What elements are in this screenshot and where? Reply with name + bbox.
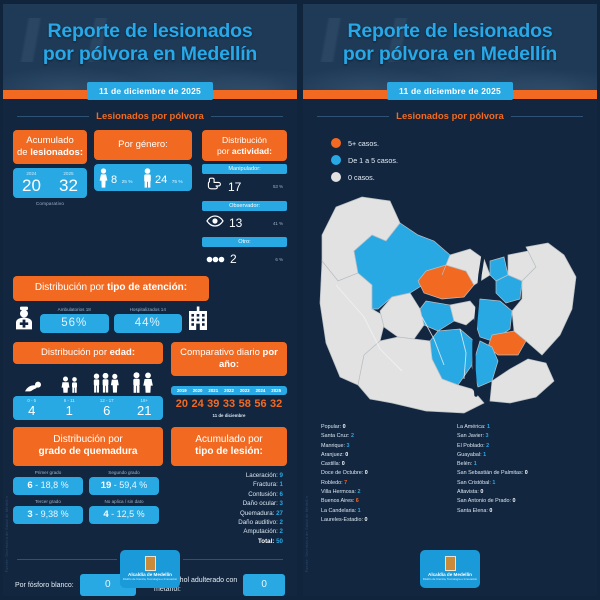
nbh-r-val-3: 1: [483, 452, 486, 458]
attention-heading: Distribución por tipo de atención:: [13, 276, 209, 301]
header-right: Reporte de lesionados por pólvora en Med…: [303, 4, 597, 90]
infographic-page: Reporte de lesionados por pólvora en Med…: [0, 0, 600, 600]
age-group-0: 0 - 5 4: [13, 398, 51, 417]
injury-value-0: 9: [280, 472, 283, 479]
nbh-r-name-5: San Sebastián de Palmitas:: [457, 470, 523, 476]
male-figure-icon: [143, 168, 152, 188]
activity-row-observador: 13 41 %: [202, 211, 287, 234]
list-item: La Candelaria: 1: [321, 507, 447, 516]
age-title-a: Distribución por: [41, 347, 110, 358]
attention-ambulatory-label: Ambulatorios 18: [40, 307, 109, 312]
list-item: Fractura: 1: [171, 480, 283, 489]
title-line-2: por pólvora en Medellín: [3, 43, 297, 66]
injury-label-0: Laceración:: [246, 472, 278, 479]
burn-label-1: Segundo grado: [89, 470, 159, 475]
list-item: Aranjuez: 0: [321, 451, 447, 460]
legend-dot-grey-icon: [331, 172, 341, 182]
nbh-l-name-4: Castilla:: [321, 461, 340, 467]
intox-divider-left: [17, 559, 117, 560]
accumulated-value-1: 32: [50, 177, 87, 194]
gender-male-count: 24: [155, 174, 167, 186]
injury-list: Laceración: 9 Fractura: 1 Contusión: 6 D…: [171, 471, 287, 546]
list-item: San Antonio de Prado: 0: [457, 497, 583, 506]
burn-count-2: 3: [27, 509, 32, 520]
yearly-year-0: 2019: [174, 388, 190, 393]
legend-row-high: 5+ casos.: [331, 138, 597, 148]
gender-values: 8 25 % 24 75 %: [94, 164, 192, 191]
injury-total-row: Total: 50: [171, 537, 283, 546]
nbh-l-name-10: Laureles-Estadio:: [321, 517, 363, 523]
injury-label-6: Amputación:: [243, 528, 277, 535]
source-note-right: Fuente: Secretaría de Salud de Medellín: [305, 496, 309, 572]
section-title-lesionados: Lesionados por pólvora: [3, 111, 297, 122]
injury-label-4: Quemadura:: [240, 510, 274, 517]
baby-icon: [15, 381, 52, 393]
injury-label-5: Daño auditivo:: [238, 519, 278, 526]
list-item: Laceración: 9: [171, 471, 283, 480]
injury-label-2: Contusión:: [248, 491, 278, 498]
section-title-text: Lesionados por pólvora: [96, 111, 204, 122]
burn-count-0: 6: [27, 480, 32, 491]
nbh-l-name-1: Santa Cruz:: [321, 433, 349, 439]
header-accent-bar-left: 11 de diciembre de 2025: [3, 90, 297, 99]
attention-ambulatory-value: 56%: [40, 314, 109, 333]
yearly-caption: 11 de diciembre: [171, 413, 287, 418]
list-item: Buenos Aires: 6: [321, 497, 447, 506]
nbh-l-val-5: 0: [365, 470, 368, 476]
yearly-title-a: Comparativo diario: [180, 347, 262, 358]
list-item: Altavista: 0: [457, 488, 583, 497]
list-item: Castilla: 0: [321, 460, 447, 469]
activity-heading: Distribución por actividad:: [202, 130, 287, 161]
hospital-icon: [187, 306, 209, 335]
burn-title-2: grado de quemadura: [39, 446, 138, 457]
age-title-b: edad:: [110, 347, 135, 358]
legend-row-zero: 0 casos.: [331, 172, 597, 182]
list-item: Doce de Octubre: 0: [321, 469, 447, 478]
pointing-hand-icon: [206, 177, 223, 196]
injury-label-3: Daño ocular:: [243, 500, 278, 507]
nbh-r-name-2: El Poblado:: [457, 443, 485, 449]
nbh-l-name-8: Buenos Aires:: [321, 498, 354, 504]
header-left: Reporte de lesionados por pólvora en Med…: [3, 4, 297, 90]
gender-cell-male: 24 75 %: [143, 168, 187, 188]
burn-percent-3: 12,5 %: [117, 509, 145, 519]
neighborhood-lists: Popular: 0 Santa Cruz: 2 Manrique: 3 Ara…: [303, 419, 597, 525]
age-heading: Distribución por edad:: [13, 342, 163, 364]
nbh-l-name-5: Doce de Octubre:: [321, 470, 363, 476]
yearly-value-4: 58: [237, 398, 253, 410]
age-value-3: 21: [126, 404, 164, 417]
activity-row-manipulador: 17 53 %: [202, 174, 287, 198]
activity-title-1: Distribución: [222, 135, 267, 145]
title-line-1: Reporte de lesionados: [3, 20, 297, 43]
list-item: Daño ocular: 3: [171, 499, 283, 508]
teens-icon: [88, 373, 125, 393]
nbh-r-val-2: 2: [486, 443, 489, 449]
attention-hospitalized: Hospitalizados 14 44%: [114, 307, 183, 333]
nbh-l-val-3: 0: [345, 452, 348, 458]
legend-label-mid: De 1 a 5 casos.: [348, 156, 398, 165]
nbh-r-val-5: 0: [525, 470, 528, 476]
legend-dot-orange-icon: [331, 138, 341, 148]
nbh-l-val-7: 2: [357, 489, 360, 495]
card-activity: Distribución por actividad: Manipulador:…: [202, 130, 287, 270]
burn-heading: Distribución por grado de quemadura: [13, 427, 163, 466]
list-item: Guayabal: 1: [457, 451, 583, 460]
activity-percent-otro: 6 %: [275, 257, 283, 262]
nbh-r-val-0: 1: [487, 424, 490, 430]
yearly-year-2: 2021: [205, 388, 221, 393]
gender-female-percent: 25 %: [122, 180, 133, 185]
age-value-1: 1: [51, 404, 89, 417]
injury-title-1: Acumulado por: [195, 434, 262, 445]
gender-male-stats: 24 75 %: [155, 170, 187, 188]
list-item: San Cristóbal: 1: [457, 479, 583, 488]
injury-title-2: tipo de lesión:: [195, 446, 263, 457]
map-legend: 5+ casos. De 1 a 5 casos. 0 casos.: [303, 138, 597, 182]
map-divider-right: [511, 116, 583, 117]
activity-value-otro: 2: [230, 253, 237, 265]
attention-ambulatory: Ambulatorios 18 56%: [40, 307, 109, 333]
accumulated-title-2a: de: [17, 147, 30, 158]
title-right-line-2: por pólvora en Medellín: [303, 43, 597, 66]
three-dots-icon: [206, 250, 225, 268]
burn-count-3: 4: [103, 509, 108, 520]
legend-label-zero: 0 casos.: [348, 173, 375, 182]
accumulated-cell-0: 2024 20: [13, 171, 50, 194]
accumulated-heading: Acumulado de lesionados:: [13, 130, 87, 164]
section-title-map: Lesionados por pólvora: [303, 111, 597, 122]
nbh-r-val-6: 1: [492, 480, 495, 486]
nbh-l-name-2: Manrique:: [321, 443, 345, 449]
burn-label-3: No aplica / sin dato: [89, 499, 159, 504]
accumulated-caption: Comparativo: [13, 201, 87, 206]
nbh-l-val-1: 2: [351, 433, 354, 439]
list-item: Villa Hermosa: 2: [321, 488, 447, 497]
age-group-2: 12 - 17 6: [88, 398, 126, 417]
page-title-right: Reporte de lesionados por pólvora en Med…: [303, 4, 597, 66]
nbh-l-val-0: 0: [343, 424, 346, 430]
accumulated-values: 2024 20 2025 32: [13, 168, 87, 198]
yearly-year-1: 2020: [190, 388, 206, 393]
age-value-2: 6: [88, 404, 126, 417]
list-item: Popular: 0: [321, 423, 447, 432]
intox-divider-right: [183, 559, 283, 560]
female-figure-icon: [99, 168, 108, 188]
list-item: Robledo: 7: [321, 479, 447, 488]
age-group-1: 6 - 11 1: [51, 398, 89, 417]
activity-value-observador: 13: [229, 217, 242, 229]
yearly-value-1: 24: [190, 398, 206, 410]
report-date-right: 11 de diciembre de 2025: [387, 82, 513, 100]
nbh-l-name-3: Aranjuez:: [321, 452, 344, 458]
attention-title-b: tipo de atención:: [107, 282, 187, 293]
nbh-r-name-7: Altavista:: [457, 489, 479, 495]
injury-value-6: 2: [280, 528, 283, 535]
burn-cell-1: Segundo grado 19 - 59,4 %: [89, 470, 159, 495]
nbh-r-val-9: 0: [489, 508, 492, 514]
yearly-year-3: 2022: [221, 388, 237, 393]
list-item: Santa Elena: 0: [457, 507, 583, 516]
accumulated-cell-1: 2025 32: [50, 171, 87, 194]
burn-cell-0: Primer grado 6 - 18,8 %: [13, 470, 83, 495]
children-icon: [52, 376, 89, 393]
injury-value-3: 3: [280, 500, 283, 507]
burn-value-1: 19 - 59,4 %: [89, 477, 159, 495]
burn-label-2: Tercer grado: [13, 499, 83, 504]
yearly-value-2: 39: [205, 398, 221, 410]
accumulated-value-0: 20: [13, 177, 50, 194]
yearly-year-4: 2023: [237, 388, 253, 393]
nbh-r-name-8: San Antonio de Prado:: [457, 498, 511, 504]
activity-label-observador: Observador:: [202, 201, 287, 211]
injury-heading: Acumulado por tipo de lesión:: [171, 427, 287, 466]
neighborhood-list-left: Popular: 0 Santa Cruz: 2 Manrique: 3 Ara…: [321, 423, 447, 525]
burn-percent-1: 59,4 %: [119, 480, 147, 490]
yearly-year-5: 2024: [253, 388, 269, 393]
injury-value-4: 27: [276, 510, 283, 517]
adults-icon: [125, 372, 162, 393]
gender-female-count: 8: [111, 174, 117, 186]
burn-value-2: 3 - 9,38 %: [13, 506, 83, 524]
divider-line-left: [17, 116, 89, 117]
burn-value-0: 6 - 18,8 %: [13, 477, 83, 495]
card-accumulated: Acumulado de lesionados: 2024 20 2025 32: [13, 130, 87, 206]
list-item: Quemadura: 27: [171, 509, 283, 518]
injury-total-label: Total:: [258, 538, 274, 545]
card-yearly-comparison: Comparativo diario por año: 2019 2020 20…: [171, 342, 287, 420]
card-injury-type: Acumulado por tipo de lesión: Laceración…: [171, 427, 287, 546]
gender-male-percent: 75 %: [172, 180, 183, 185]
activity-row-otro: 2 6 %: [202, 247, 287, 270]
yearly-year-6: 2025: [268, 388, 284, 393]
activity-label-otro: Otro:: [202, 237, 287, 247]
yearly-value-0: 20: [174, 398, 190, 410]
legend-row-mid: De 1 a 5 casos.: [331, 155, 597, 165]
activity-percent-observador: 41 %: [273, 221, 283, 226]
yearly-value-5: 56: [253, 398, 269, 410]
attention-hospitalized-label: Hospitalizados 14: [114, 307, 183, 312]
list-item: Santa Cruz: 2: [321, 432, 447, 441]
card-gender: Por género: 8 25 %: [94, 130, 192, 191]
nbh-l-val-8: 6: [356, 498, 359, 504]
age-group-3: 18+ 21: [126, 398, 164, 417]
nbh-r-name-6: San Cristóbal:: [457, 480, 491, 486]
burn-cell-2: Tercer grado 3 - 9,38 %: [13, 499, 83, 524]
nbh-l-val-9: 1: [358, 508, 361, 514]
nbh-l-name-9: La Candelaria:: [321, 508, 356, 514]
gender-heading: Por género:: [94, 130, 192, 160]
footer-logo-left: Alcaldía de Medellín Distrito de Ciencia…: [120, 550, 180, 588]
right-panel: Reporte de lesionados por pólvora en Med…: [303, 4, 597, 596]
footer-logo-right: Alcaldía de Medellín Distrito de Ciencia…: [420, 550, 480, 588]
nbh-l-name-0: Popular:: [321, 424, 341, 430]
list-item: San Sebastián de Palmitas: 0: [457, 469, 583, 478]
activity-value-manipulador: 17: [228, 181, 241, 193]
burn-values: Primer grado 6 - 18,8 % Segundo grado 19…: [13, 470, 163, 524]
nbh-l-val-4: 0: [342, 461, 345, 467]
accumulated-year-1: 2025: [50, 171, 87, 176]
nbh-l-val-6: 7: [344, 480, 347, 486]
attention-values: Ambulatorios 18 56% Hospitalizados 14 44…: [13, 306, 209, 335]
activity-title-2a: por: [217, 146, 232, 156]
age-values: 0 - 5 4 6 - 11 1 12 - 17 6 18+: [13, 396, 163, 420]
nbh-r-name-9: Santa Elena:: [457, 508, 488, 514]
card-age: Distribución por edad:: [13, 342, 163, 420]
yearly-heading: Comparativo diario por año:: [171, 342, 287, 376]
left-panel: Reporte de lesionados por pólvora en Med…: [3, 4, 297, 596]
yearly-year-strip: 2019 2020 2021 2022 2023 2024 2025: [171, 386, 287, 395]
map-section-title-text: Lesionados por pólvora: [396, 111, 504, 122]
activity-title-2b: actividad:: [232, 146, 272, 156]
nbh-r-val-8: 0: [512, 498, 515, 504]
intox-label-0: Por fósforo blanco:: [15, 581, 74, 590]
gender-cell-female: 8 25 %: [99, 168, 143, 188]
accumulated-year-0: 2024: [13, 171, 50, 176]
footer-logo-sub-left: Distrito de Ciencia, Tecnología e Innova…: [123, 578, 177, 581]
doctor-icon: [13, 306, 35, 335]
list-item: Contusión: 6: [171, 490, 283, 499]
list-item: Belén: 1: [457, 460, 583, 469]
source-note-left: Fuente: Secretaría de Salud de Medellín: [5, 496, 9, 572]
nbh-l-name-6: Robledo:: [321, 480, 343, 486]
nbh-r-name-1: San Javier:: [457, 433, 484, 439]
divider-line-right: [211, 116, 283, 117]
burn-percent-2: 9,38 %: [41, 509, 69, 519]
legend-dot-blue-icon: [331, 155, 341, 165]
nbh-r-val-7: 0: [480, 489, 483, 495]
list-item: La América: 1: [457, 423, 583, 432]
map-divider-left: [317, 116, 389, 117]
nbh-l-val-2: 3: [346, 443, 349, 449]
list-item: Amputación: 2: [171, 527, 283, 536]
injury-label-1: Fractura:: [253, 481, 278, 488]
nbh-r-name-0: La América:: [457, 424, 485, 430]
legend-label-high: 5+ casos.: [348, 139, 379, 148]
age-icons: [13, 371, 163, 393]
nbh-l-val-10: 0: [364, 517, 367, 523]
page-title: Reporte de lesionados por pólvora en Med…: [3, 4, 297, 66]
list-item: Daño auditivo: 2: [171, 518, 283, 527]
card-burn-degree: Distribución por grado de quemadura Prim…: [13, 427, 163, 546]
yearly-value-3: 33: [221, 398, 237, 410]
accumulated-title-2b: lesionados:: [30, 147, 83, 158]
report-date-left: 11 de diciembre de 2025: [87, 82, 213, 100]
burn-label-0: Primer grado: [13, 470, 83, 475]
footer-logo-sub-right: Distrito de Ciencia, Tecnología e Innova…: [423, 578, 477, 581]
list-item: San Javier: 3: [457, 432, 583, 441]
injury-value-5: 2: [280, 519, 283, 526]
burn-cell-3: No aplica / sin dato 4 - 12,5 %: [89, 499, 159, 524]
attention-hospitalized-value: 44%: [114, 314, 183, 333]
nbh-r-val-1: 3: [485, 433, 488, 439]
injury-value-2: 6: [280, 491, 283, 498]
nbh-l-name-7: Villa Hermosa:: [321, 489, 356, 495]
eye-icon: [206, 214, 224, 232]
nbh-r-name-3: Guayabal:: [457, 452, 482, 458]
title-right-line-1: Reporte de lesionados: [303, 20, 597, 43]
neighborhood-list-right: La América: 1 San Javier: 3 El Poblado: …: [457, 423, 583, 525]
age-value-0: 4: [13, 404, 51, 417]
attention-title-a: Distribución por: [35, 282, 107, 293]
burn-value-3: 4 - 12,5 %: [89, 506, 159, 524]
accumulated-title-1: Acumulado: [26, 135, 74, 146]
intox-value-1: 0: [243, 574, 285, 596]
yearly-values: 20 24 39 33 58 56 32: [171, 398, 287, 410]
crest-icon: [145, 556, 156, 571]
burn-count-1: 19: [101, 480, 112, 491]
list-item: El Poblado: 2: [457, 442, 583, 451]
yearly-value-6: 32: [268, 398, 284, 410]
injury-total-value: 50: [276, 538, 283, 545]
burn-title-1: Distribución por: [53, 434, 122, 445]
header-accent-bar-right: 11 de diciembre de 2025: [303, 90, 597, 99]
gender-female-stats: 8 25 %: [111, 170, 143, 188]
card-attention: Distribución por tipo de atención: Ambul…: [13, 276, 209, 335]
activity-percent-manipulador: 53 %: [273, 184, 283, 189]
crest-icon-right: [445, 556, 456, 571]
medellin-map[interactable]: [303, 189, 597, 419]
nbh-r-name-4: Belén:: [457, 461, 472, 467]
list-item: Manrique: 3: [321, 442, 447, 451]
list-item: Laureles-Estadio: 0: [321, 516, 447, 525]
activity-label-manipulador: Manipulador:: [202, 164, 287, 174]
burn-percent-0: 18,8 %: [41, 480, 69, 490]
injury-value-1: 1: [280, 481, 283, 488]
nbh-r-val-4: 1: [474, 461, 477, 467]
